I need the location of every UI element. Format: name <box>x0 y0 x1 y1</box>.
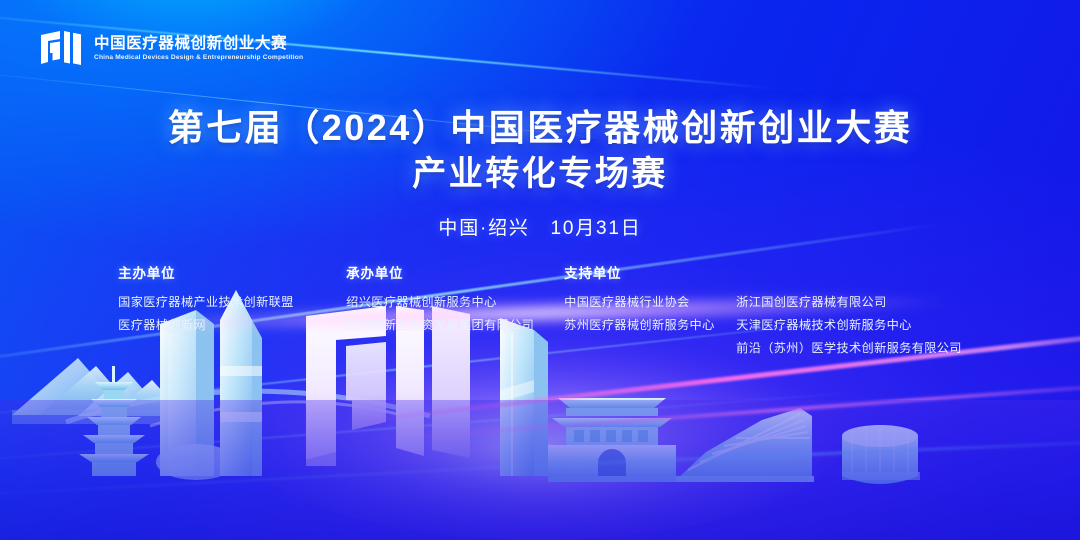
organizer-column-support-2: 支持单位 浙江国创医疗器械有限公司 天津医疗器械技术创新服务中心 前沿（苏州）医… <box>736 262 962 360</box>
organizer-item: 医疗器械创新网 <box>118 314 346 337</box>
title-block: 第七届（2024）中国医疗器械创新创业大赛 产业转化专场赛 中国·绍兴 10月3… <box>0 104 1080 240</box>
organizer-column-support: 支持单位 中国医疗器械行业协会 苏州医疗器械创新服务中心 <box>564 262 736 360</box>
brand-logo: 中国医疗器械创新创业大赛 China Medical Devices Desig… <box>38 26 303 72</box>
organizer-item: 苏州医疗器械创新服务中心 <box>564 314 736 337</box>
organizer-item: 国家医疗器械产业技术创新联盟 <box>118 291 346 314</box>
organizer-column-organizer: 承办单位 绍兴医疗器械创新服务中心 绍兴高新区投资发展集团有限公司 <box>346 262 564 360</box>
event-location-date: 中国·绍兴 10月31日 <box>0 213 1080 240</box>
organizer-heading: 主办单位 <box>118 262 346 282</box>
organizer-item: 浙江国创医疗器械有限公司 <box>736 291 962 314</box>
open-door-book-logo-icon <box>38 26 84 72</box>
organizer-column-host: 主办单位 国家医疗器械产业技术创新联盟 医疗器械创新网 <box>118 262 346 360</box>
organizer-item: 中国医疗器械行业协会 <box>564 291 736 314</box>
organizer-item: 天津医疗器械技术创新服务中心 <box>736 314 962 337</box>
organizer-heading: 支持单位 <box>564 262 736 282</box>
poster-canvas: 中国医疗器械创新创业大赛 China Medical Devices Desig… <box>0 0 1080 540</box>
title-line-1: 第七届（2024）中国医疗器械创新创业大赛 <box>0 104 1080 152</box>
title-line-2: 产业转化专场赛 <box>0 152 1080 198</box>
brand-name-en: China Medical Devices Design & Entrepren… <box>94 55 303 62</box>
organizers-section: 主办单位 国家医疗器械产业技术创新联盟 医疗器械创新网 承办单位 绍兴医疗器械创… <box>0 262 1080 360</box>
ground-haze <box>0 400 1080 540</box>
brand-name-cn: 中国医疗器械创新创业大赛 <box>94 36 303 52</box>
organizer-item: 前沿（苏州）医学技术创新服务有限公司 <box>736 337 962 360</box>
organizer-heading: 承办单位 <box>346 262 564 282</box>
organizer-item: 绍兴医疗器械创新服务中心 <box>346 291 564 314</box>
organizer-item: 绍兴高新区投资发展集团有限公司 <box>346 314 564 337</box>
